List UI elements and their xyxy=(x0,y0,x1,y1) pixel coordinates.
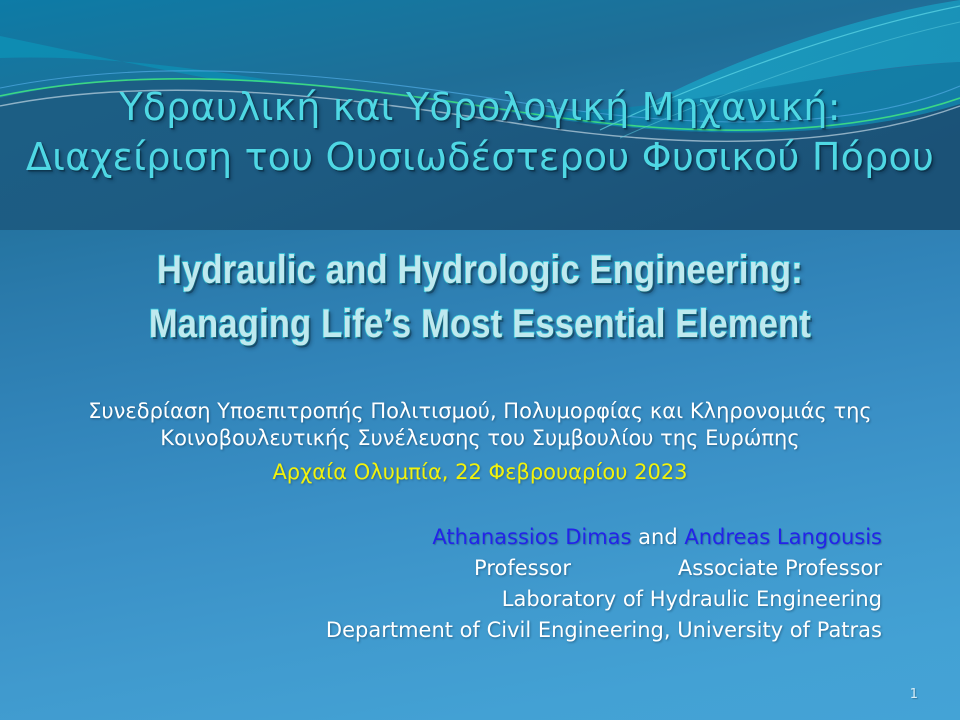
author-conjunction: and xyxy=(631,525,684,549)
presentation-slide: Υδραυλική και Υδρολογική Μηχανική: Διαχε… xyxy=(0,0,960,720)
author-name-secondary: Andreas Langousis xyxy=(684,525,882,549)
english-title-line-1: Hydraulic and Hydrologic Engineering: xyxy=(67,243,893,297)
event-info: Συνεδρίαση Υποεπιτροπής Πολιτισμού, Πολυ… xyxy=(0,398,960,486)
event-line-2: Κοινοβουλευτικής Συνέλευσης του Συμβουλί… xyxy=(0,425,960,452)
author-roles-line: Professor Associate Professor xyxy=(262,553,882,584)
department-line: Department of Civil Engineering, Univers… xyxy=(262,615,882,646)
greek-title-line-1: Υδραυλική και Υδρολογική Μηχανική: xyxy=(0,82,960,132)
greek-title-line-2: Διαχείριση του Ουσιωδέστερου Φυσικού Πόρ… xyxy=(0,132,960,182)
slide-number: 1 xyxy=(910,687,918,702)
event-venue-date: Αρχαία Ολυμπία, 22 Φεβρουαρίου 2023 xyxy=(0,459,960,486)
english-title-line-2: Managing Life’s Most Essential Element xyxy=(67,297,893,351)
authors-and-affiliation: Athanassios Dimas and Andreas Langousis … xyxy=(262,522,882,645)
author-name-primary: Athanassios Dimas xyxy=(432,525,631,549)
english-title: Hydraulic and Hydrologic Engineering: Ma… xyxy=(67,243,893,351)
greek-title: Υδραυλική και Υδρολογική Μηχανική: Διαχε… xyxy=(0,82,960,182)
author-names-line: Athanassios Dimas and Andreas Langousis xyxy=(262,522,882,553)
event-line-1: Συνεδρίαση Υποεπιτροπής Πολιτισμού, Πολυ… xyxy=(0,398,960,425)
laboratory-line: Laboratory of Hydraulic Engineering xyxy=(262,584,882,615)
